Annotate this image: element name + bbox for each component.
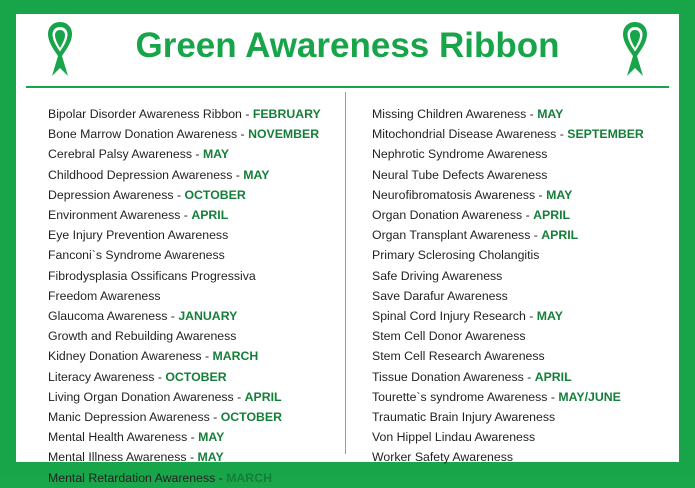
- separator: -: [530, 228, 541, 242]
- list-item: Cerebral Palsy Awareness - MAY: [48, 144, 341, 164]
- awareness-name: Bipolar Disorder Awareness Ribbon: [48, 107, 242, 121]
- awareness-name: Eye Injury Prevention Awareness: [48, 228, 228, 242]
- list-item: Save Darafur Awareness: [372, 286, 665, 306]
- separator: -: [187, 450, 198, 464]
- awareness-name: Neural Tube Defects Awareness: [372, 168, 547, 182]
- list-item: Nephrotic Syndrome Awareness: [372, 144, 665, 164]
- list-item: Mitochondrial Disease Awareness - SEPTEM…: [372, 124, 665, 144]
- list-item: Tourette`s syndrome Awareness - MAY/JUNE: [372, 387, 665, 407]
- awareness-name: Freedom Awareness: [48, 289, 161, 303]
- list-item: Mental Retardation Awareness - MARCH: [48, 468, 341, 488]
- list-item: Eye Injury Prevention Awareness: [48, 225, 341, 245]
- awareness-name: Environment Awareness: [48, 208, 180, 222]
- list-item: Bipolar Disorder Awareness Ribbon - FEBR…: [48, 104, 341, 124]
- awareness-month: NOVEMBER: [248, 127, 319, 141]
- awareness-name: Glaucoma Awareness: [48, 309, 167, 323]
- separator: -: [174, 188, 185, 202]
- list-item: Von Hippel Lindau Awareness: [372, 427, 665, 447]
- awareness-name: Mental Health Awareness: [48, 430, 187, 444]
- awareness-month: SEPTEMBER: [567, 127, 644, 141]
- awareness-name: Bone Marrow Donation Awareness: [48, 127, 237, 141]
- separator: -: [535, 188, 546, 202]
- awareness-name: Save Darafur Awareness: [372, 289, 508, 303]
- list-item: Traumatic Brain Injury Awareness: [372, 407, 665, 427]
- awareness-name: Living Organ Donation Awareness: [48, 390, 234, 404]
- separator: -: [234, 390, 245, 404]
- awareness-name: Primary Sclerosing Cholangitis: [372, 248, 539, 262]
- separator: -: [180, 208, 191, 222]
- awareness-name: Growth and Rebuilding Awareness: [48, 329, 236, 343]
- awareness-month: OCTOBER: [184, 188, 245, 202]
- list-item: Depression Awareness - OCTOBER: [48, 185, 341, 205]
- awareness-list: Bipolar Disorder Awareness Ribbon - FEBR…: [26, 92, 669, 454]
- page-title: Green Awareness Ribbon: [26, 26, 669, 66]
- awareness-name: Fanconi`s Syndrome Awareness: [48, 248, 225, 262]
- list-item: Neural Tube Defects Awareness: [372, 165, 665, 185]
- list-item: Stem Cell Research Awareness: [372, 346, 665, 366]
- awareness-month: MAY/JUNE: [558, 390, 620, 404]
- awareness-month: APRIL: [541, 228, 578, 242]
- list-item: Mental Health Awareness - MAY: [48, 427, 341, 447]
- separator: -: [215, 471, 226, 485]
- awareness-month: FEBRUARY: [253, 107, 321, 121]
- awareness-month: APRIL: [533, 208, 570, 222]
- separator: -: [232, 168, 243, 182]
- list-item: Mental Illness Awareness - MAY: [48, 447, 341, 467]
- awareness-name: Depression Awareness: [48, 188, 174, 202]
- awareness-month: JANUARY: [178, 309, 237, 323]
- awareness-month: MAY: [198, 430, 224, 444]
- awareness-name: Tourette`s syndrome Awareness: [372, 390, 547, 404]
- list-item: Environment Awareness - APRIL: [48, 205, 341, 225]
- separator: -: [556, 127, 567, 141]
- separator: -: [202, 349, 213, 363]
- awareness-name: Stem Cell Donor Awareness: [372, 329, 526, 343]
- separator: -: [522, 208, 533, 222]
- awareness-name: Literacy Awareness: [48, 370, 154, 384]
- awareness-name: Von Hippel Lindau Awareness: [372, 430, 535, 444]
- awareness-name: Neurofibromatosis Awareness: [372, 188, 535, 202]
- separator: -: [167, 309, 178, 323]
- awareness-name: Tissue Donation Awareness: [372, 370, 524, 384]
- awareness-month: OCTOBER: [165, 370, 226, 384]
- awareness-name: Cerebral Palsy Awareness: [48, 147, 192, 161]
- poster-border: Green Awareness Ribbon Bipolar Disorder …: [0, 0, 695, 476]
- awareness-name: Mental Illness Awareness: [48, 450, 187, 464]
- awareness-name: Missing Children Awareness: [372, 107, 526, 121]
- list-item: Neurofibromatosis Awareness - MAY: [372, 185, 665, 205]
- list-item: Kidney Donation Awareness - MARCH: [48, 346, 341, 366]
- list-item: Organ Transplant Awareness - APRIL: [372, 225, 665, 245]
- list-item: Living Organ Donation Awareness - APRIL: [48, 387, 341, 407]
- separator: -: [187, 430, 198, 444]
- awareness-name: Spinal Cord Injury Research: [372, 309, 526, 323]
- list-item: Childhood Depression Awareness - MAY: [48, 165, 341, 185]
- list-item: Glaucoma Awareness - JANUARY: [48, 306, 341, 326]
- awareness-column-left: Bipolar Disorder Awareness Ribbon - FEBR…: [26, 92, 346, 454]
- awareness-name: Mitochondrial Disease Awareness: [372, 127, 556, 141]
- list-item: Bone Marrow Donation Awareness - NOVEMBE…: [48, 124, 341, 144]
- awareness-name: Organ Donation Awareness: [372, 208, 522, 222]
- list-item: Safe Driving Awareness: [372, 266, 665, 286]
- awareness-month: MAY: [243, 168, 269, 182]
- separator: -: [154, 370, 165, 384]
- separator: -: [242, 107, 253, 121]
- awareness-name: Mental Retardation Awareness: [48, 471, 215, 485]
- awareness-month: MAY: [197, 450, 223, 464]
- list-item: Primary Sclerosing Cholangitis: [372, 245, 665, 265]
- awareness-name: Stem Cell Research Awareness: [372, 349, 545, 363]
- list-item: Tissue Donation Awareness - APRIL: [372, 367, 665, 387]
- awareness-name: Worker Safety Awareness: [372, 450, 513, 464]
- awareness-column-right: Missing Children Awareness - MAYMitochon…: [346, 92, 669, 454]
- poster-body: Green Awareness Ribbon Bipolar Disorder …: [16, 14, 679, 462]
- awareness-month: MAY: [203, 147, 229, 161]
- list-item: Fibrodysplasia Ossificans Progressiva: [48, 266, 341, 286]
- awareness-name: Kidney Donation Awareness: [48, 349, 202, 363]
- list-item: Growth and Rebuilding Awareness: [48, 326, 341, 346]
- list-item: Worker Safety Awareness: [372, 447, 665, 467]
- separator: -: [210, 410, 221, 424]
- separator: -: [237, 127, 248, 141]
- separator: -: [547, 390, 558, 404]
- awareness-month: MAY: [537, 107, 563, 121]
- list-item: Stem Cell Donor Awareness: [372, 326, 665, 346]
- awareness-month: MAY: [546, 188, 572, 202]
- separator: -: [526, 309, 537, 323]
- awareness-month: APRIL: [535, 370, 572, 384]
- list-item: Literacy Awareness - OCTOBER: [48, 367, 341, 387]
- list-item: Fanconi`s Syndrome Awareness: [48, 245, 341, 265]
- awareness-name: Traumatic Brain Injury Awareness: [372, 410, 555, 424]
- awareness-name: Organ Transplant Awareness: [372, 228, 530, 242]
- awareness-name: Fibrodysplasia Ossificans Progressiva: [48, 269, 256, 283]
- awareness-month: MAY: [537, 309, 563, 323]
- separator: -: [192, 147, 203, 161]
- separator: -: [524, 370, 535, 384]
- poster-header: Green Awareness Ribbon: [26, 14, 669, 88]
- awareness-month: MARCH: [213, 349, 259, 363]
- awareness-name: Safe Driving Awareness: [372, 269, 502, 283]
- list-item: Manic Depression Awareness - OCTOBER: [48, 407, 341, 427]
- awareness-month: APRIL: [245, 390, 282, 404]
- list-item: Organ Donation Awareness - APRIL: [372, 205, 665, 225]
- awareness-name: Childhood Depression Awareness: [48, 168, 232, 182]
- awareness-name: Manic Depression Awareness: [48, 410, 210, 424]
- awareness-month: OCTOBER: [221, 410, 282, 424]
- ribbon-icon: [615, 20, 655, 78]
- list-item: Missing Children Awareness - MAY: [372, 104, 665, 124]
- list-item: Spinal Cord Injury Research - MAY: [372, 306, 665, 326]
- awareness-month: APRIL: [191, 208, 228, 222]
- list-item: Freedom Awareness: [48, 286, 341, 306]
- separator: -: [526, 107, 537, 121]
- awareness-name: Nephrotic Syndrome Awareness: [372, 147, 547, 161]
- awareness-month: MARCH: [226, 471, 272, 485]
